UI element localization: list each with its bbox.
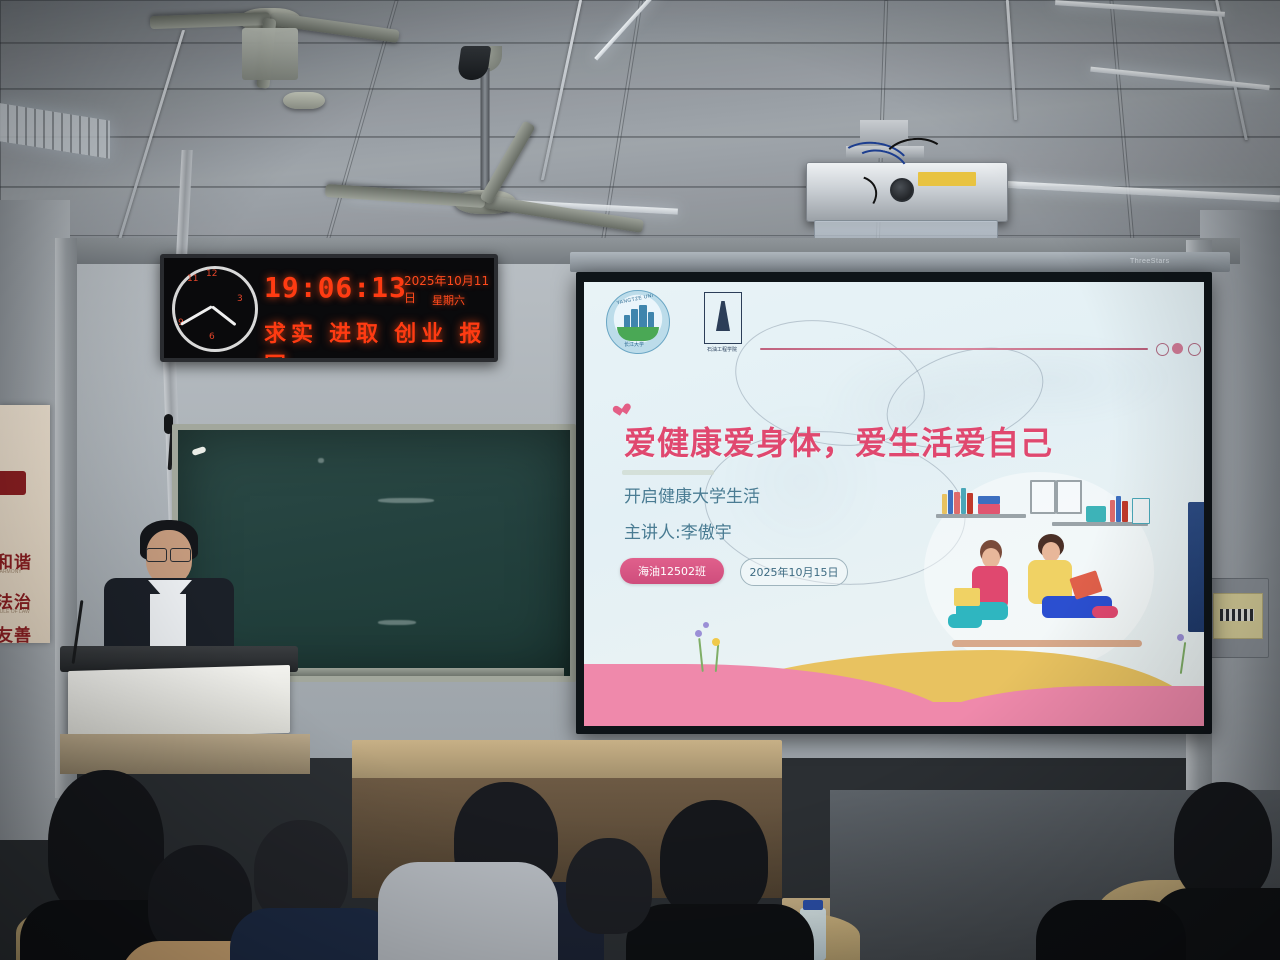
header-rule — [760, 348, 1148, 350]
wall-picture-frame — [1030, 480, 1056, 514]
bookshelf — [936, 514, 1026, 518]
led-clock-board: 12 3 6 9 11 19:06:13 2025年10月11日 星期六 求实 … — [160, 254, 498, 362]
projection-screen-case: ThreeStars — [570, 252, 1230, 272]
petroleum-college-logo — [704, 292, 742, 344]
title-underline — [622, 470, 714, 475]
classroom-photo: 和谐 HARMONY 法治 RULE OF LAW 友善 12 3 6 9 11… — [0, 0, 1280, 960]
presentation-slide: YANGTZE UNIVERSITY 长江大学 石油工程学院 — [584, 282, 1204, 726]
flower-icon — [712, 638, 720, 646]
flower-icon — [695, 630, 702, 637]
screen-brand-label: ThreeStars — [1130, 258, 1170, 265]
audience-member — [558, 838, 688, 960]
slide-title: 爱健康爱身体，爱生活爱自己 — [624, 418, 1053, 464]
led-weekday: 星期六 — [432, 292, 465, 308]
yangtze-university-logo: YANGTZE UNIVERSITY 长江大学 — [606, 290, 670, 354]
poster-value-sub-1: RULE OF LAW — [0, 609, 30, 615]
smoke-detector-icon — [283, 92, 325, 109]
illustration-person-right — [1020, 534, 1130, 654]
clock-numeral-12: 12 — [206, 269, 217, 279]
projection-screen: YANGTZE UNIVERSITY 长江大学 石油工程学院 — [576, 272, 1212, 734]
poster-value-2: 友善 — [0, 621, 32, 643]
core-values-poster: 和谐 HARMONY 法治 RULE OF LAW 友善 — [0, 405, 50, 643]
slide-subtitle: 开启健康大学生活 — [624, 482, 760, 507]
college-logo-caption: 石油工程学院 — [696, 346, 748, 353]
header-dot-1 — [1172, 343, 1183, 354]
class-badge: 海油12502班 — [620, 558, 724, 584]
clock-numeral-6: 6 — [209, 332, 215, 342]
audience-member — [378, 862, 548, 960]
desk-row — [352, 740, 782, 780]
audience-member — [230, 820, 390, 960]
wall-picture-frame — [1056, 480, 1082, 514]
slide-presenter: 主讲人:李傲宇 — [624, 518, 732, 543]
podium — [60, 646, 310, 776]
right-wall — [1200, 210, 1280, 850]
audience-member — [1036, 900, 1166, 960]
ceiling-tile — [0, 88, 1280, 138]
led-motto: 求实 进取 创业 报国 — [264, 316, 494, 362]
wave-shape-pink — [584, 702, 1204, 726]
electrical-breaker-panel[interactable] — [1205, 578, 1269, 658]
poster-value-sub-0: HARMONY — [0, 569, 22, 575]
date-badge: 2025年10月15日 — [740, 558, 848, 586]
header-dot-2 — [1188, 343, 1201, 356]
clock-numeral-3: 3 — [237, 294, 243, 304]
flower-icon — [1177, 634, 1184, 641]
logo-chinese-text: 长江大学 — [624, 341, 644, 348]
flower-icon — [703, 622, 709, 628]
ceiling-tile — [0, 42, 1280, 90]
led-time: 19:06:13 — [264, 271, 407, 304]
slide-side-panel — [1188, 502, 1204, 632]
header-dot-0 — [1156, 343, 1169, 356]
clock-numeral-11: 11 — [187, 274, 198, 284]
